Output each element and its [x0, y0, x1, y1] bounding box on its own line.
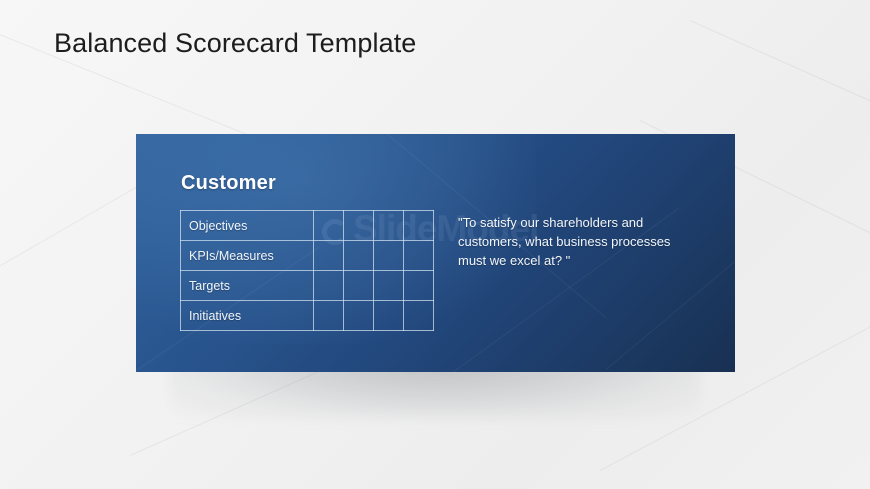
row-label-targets: Targets	[181, 271, 314, 301]
scorecard-table[interactable]: Objectives KPIs/Measures Targets	[180, 210, 434, 331]
table-row[interactable]: Targets	[181, 271, 434, 301]
panel-heading: Customer	[181, 172, 276, 195]
value-cell[interactable]	[404, 211, 434, 241]
value-cell[interactable]	[344, 211, 374, 241]
table-row[interactable]: KPIs/Measures	[181, 241, 434, 271]
table-row[interactable]: Initiatives	[181, 301, 434, 331]
value-cell[interactable]	[374, 301, 404, 331]
value-cell[interactable]	[404, 301, 434, 331]
value-cell[interactable]	[314, 241, 344, 271]
background-texture-line	[690, 20, 870, 110]
value-cell[interactable]	[404, 271, 434, 301]
value-cell[interactable]	[344, 271, 374, 301]
row-label-objectives: Objectives	[181, 211, 314, 241]
slide-canvas: Balanced Scorecard Template SlideModel C…	[0, 0, 870, 489]
value-cell[interactable]	[344, 241, 374, 271]
value-cell[interactable]	[314, 211, 344, 241]
value-cell[interactable]	[404, 241, 434, 271]
slide-title: Balanced Scorecard Template	[54, 28, 416, 59]
row-label-initiatives: Initiatives	[181, 301, 314, 331]
row-label-kpis-measures: KPIs/Measures	[181, 241, 314, 271]
customer-perspective-panel[interactable]: SlideModel Customer Objectives KPIs/Meas…	[136, 134, 735, 372]
value-cell[interactable]	[344, 301, 374, 331]
value-cell[interactable]	[374, 241, 404, 271]
value-cell[interactable]	[314, 301, 344, 331]
perspective-quote: "To satisfy our shareholders and custome…	[458, 213, 694, 270]
table-row[interactable]: Objectives	[181, 211, 434, 241]
value-cell[interactable]	[314, 271, 344, 301]
value-cell[interactable]	[374, 211, 404, 241]
value-cell[interactable]	[374, 271, 404, 301]
